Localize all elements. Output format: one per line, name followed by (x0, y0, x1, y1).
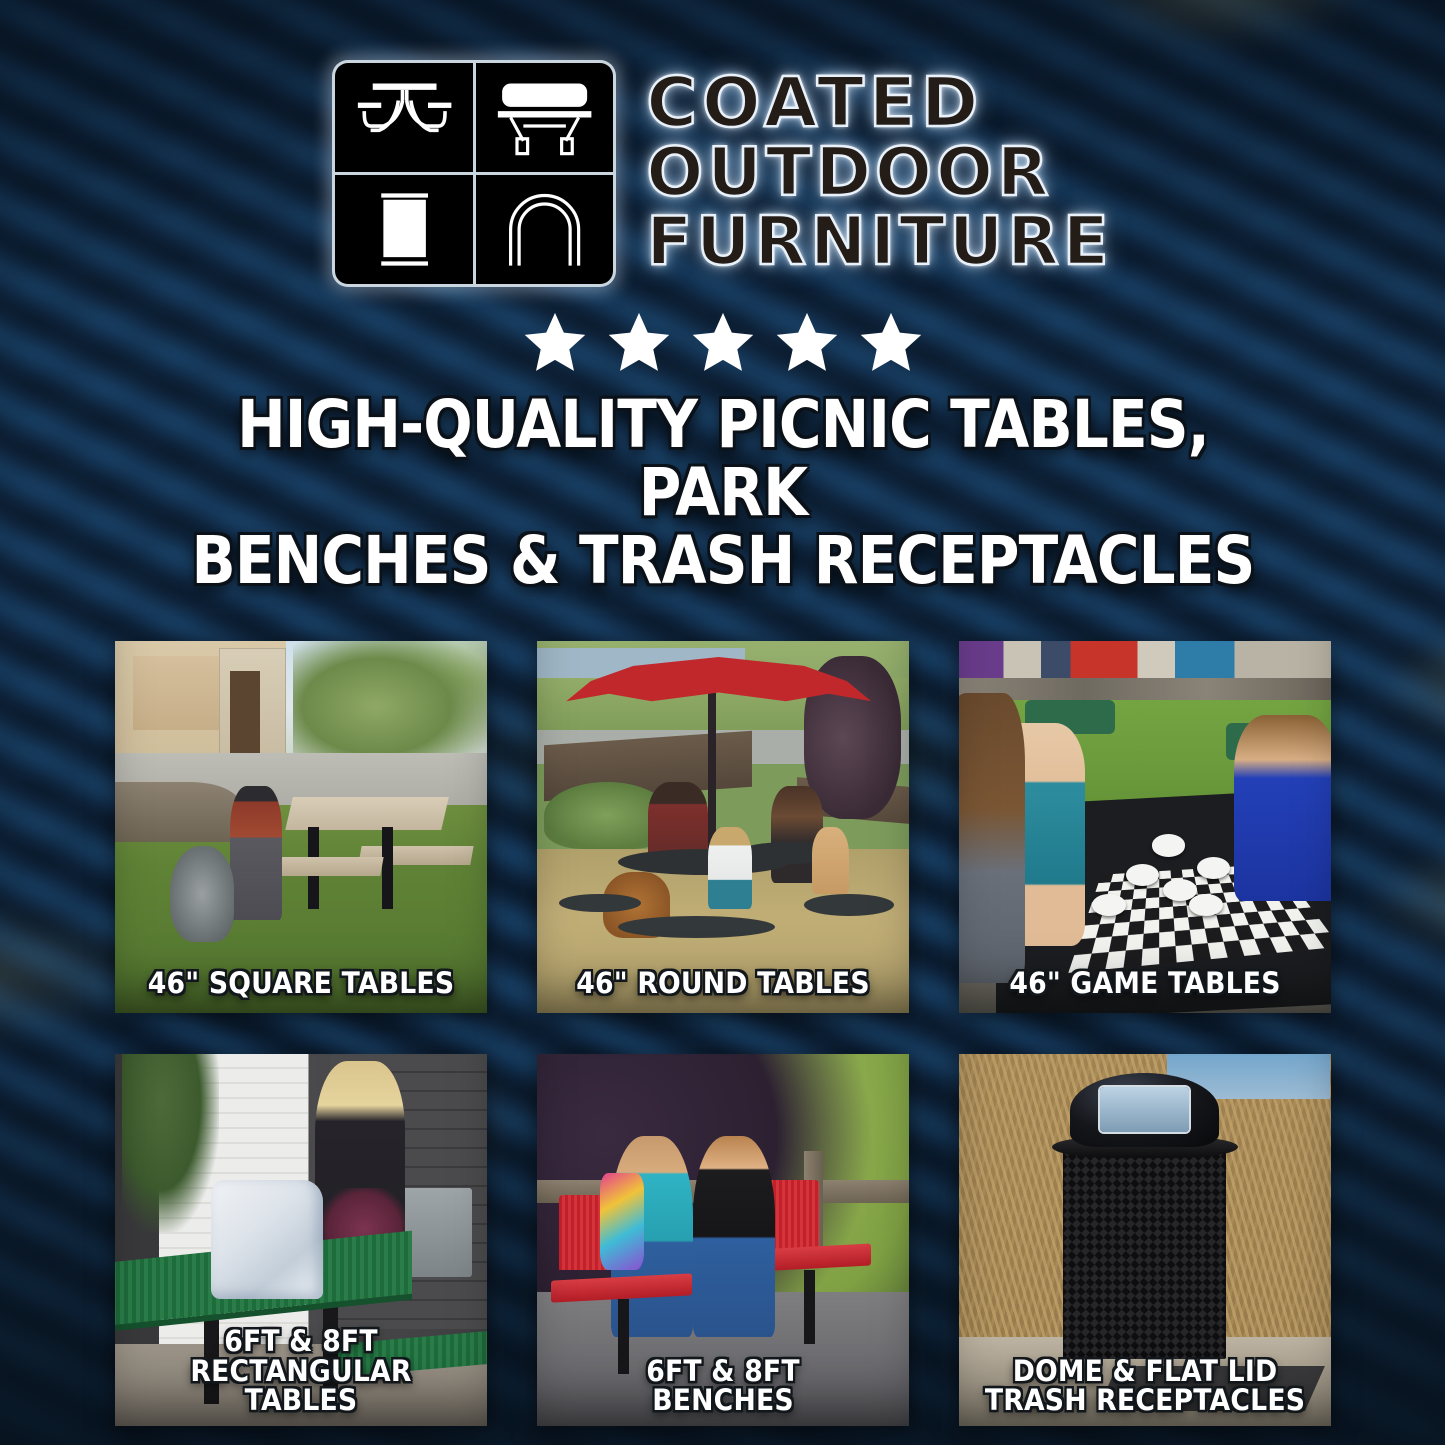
product-caption: 46" ROUND TABLES (551, 969, 893, 999)
star-icon (858, 309, 924, 375)
product-tile-square-tables[interactable]: 46" SQUARE TABLES (115, 641, 487, 1013)
product-tile-benches[interactable]: 6FT & 8FT BENCHES (537, 1054, 909, 1426)
product-tile-game-tables[interactable]: 46" GAME TABLES (959, 641, 1331, 1013)
bench-icon (476, 63, 614, 172)
product-grid: 46" SQUARE TABLES (115, 641, 1331, 1426)
brand-name-line-2: OUTDOOR (646, 139, 1112, 205)
product-photo-round-tables (537, 641, 909, 1013)
product-tile-trash-receptacles[interactable]: DOME & FLAT LID TRASH RECEPTACLES (959, 1054, 1331, 1426)
brand-logo: COATED OUTDOOR FURNITURE (332, 60, 1112, 287)
product-photo-game-tables (959, 641, 1331, 1013)
star-icon (522, 309, 588, 375)
brand-wordmark: COATED OUTDOOR FURNITURE (646, 69, 1112, 278)
brand-name-line-3: FURNITURE (646, 208, 1112, 274)
headline-line-1: HIGH-QUALITY PICNIC TABLES, PARK (173, 391, 1273, 527)
brand-name-line-1: COATED (646, 69, 1112, 137)
product-photo-square-tables (115, 641, 487, 1013)
star-icon (774, 309, 840, 375)
product-caption: 46" SQUARE TABLES (129, 969, 471, 999)
star-icon (690, 309, 756, 375)
product-tile-round-tables[interactable]: 46" ROUND TABLES (537, 641, 909, 1013)
product-caption: 6FT & 8FT RECTANGULAR TABLES (129, 1327, 471, 1416)
star-rating (522, 309, 924, 375)
headline: HIGH-QUALITY PICNIC TABLES, PARK BENCHES… (173, 391, 1273, 595)
logo-icon-grid (332, 60, 616, 287)
picnic-table-icon (335, 63, 473, 172)
poster-content: COATED OUTDOOR FURNITURE HIGH-QUALITY PI… (0, 0, 1445, 1445)
trash-receptacle-icon (335, 175, 473, 284)
star-icon (606, 309, 672, 375)
headline-line-2: BENCHES & TRASH RECEPTACLES (173, 527, 1273, 595)
product-caption: 6FT & 8FT BENCHES (551, 1357, 893, 1416)
product-caption: DOME & FLAT LID TRASH RECEPTACLES (973, 1357, 1315, 1416)
product-tile-rectangular-tables[interactable]: 6FT & 8FT RECTANGULAR TABLES (115, 1054, 487, 1426)
arch-bike-rack-icon (476, 175, 614, 284)
product-caption: 46" GAME TABLES (973, 969, 1315, 999)
